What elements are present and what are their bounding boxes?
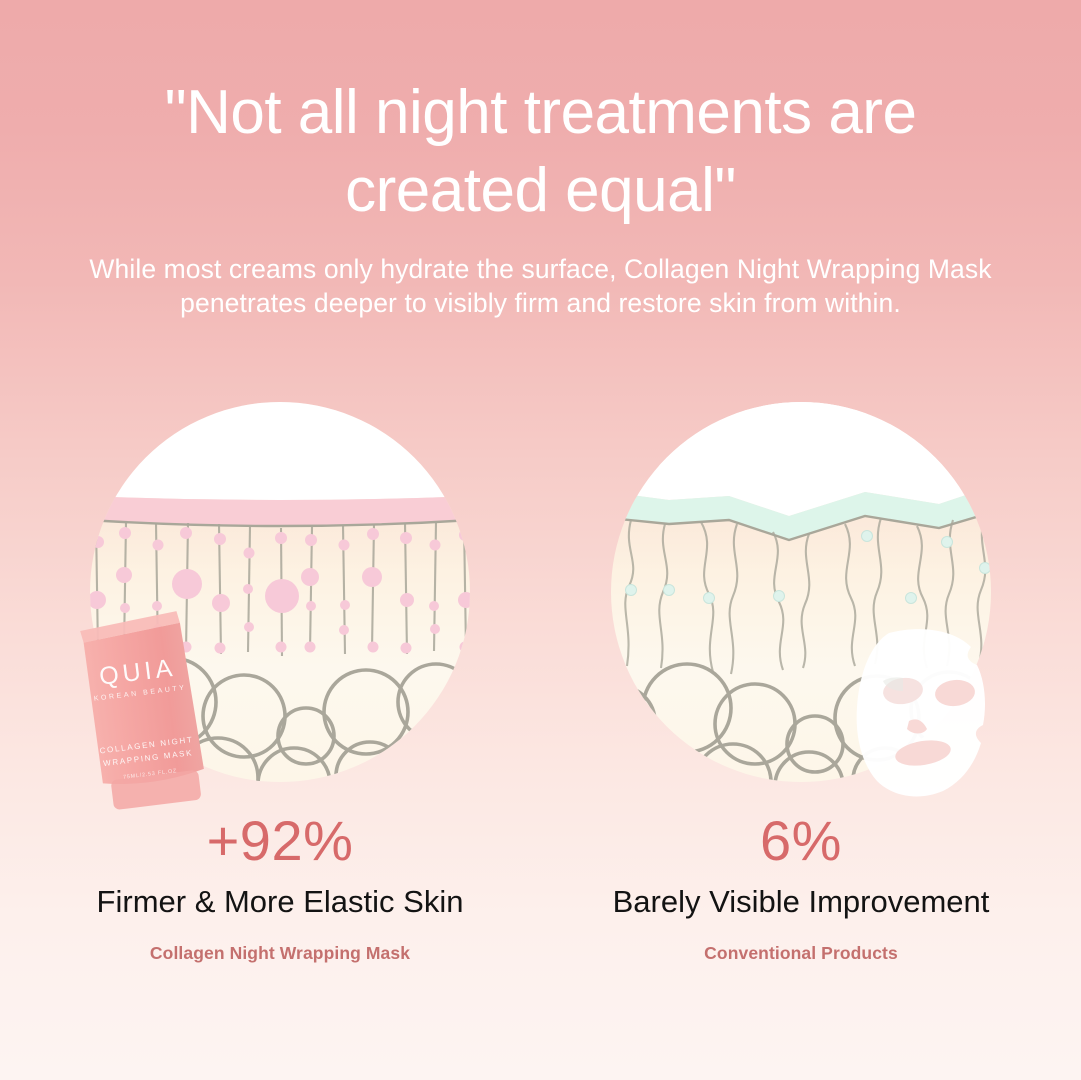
stat-label: Barely Visible Improvement xyxy=(551,882,1051,921)
stat-caption: Conventional Products xyxy=(551,942,1051,964)
product-tube: QUIA KOREAN BEAUTY COLLAGEN NIGHT WRAPPI… xyxy=(72,608,212,813)
stat-block-right: 6% Barely Visible Improvement Convention… xyxy=(551,810,1051,964)
sheet-mask-graphic xyxy=(843,625,1013,805)
comparison-column-left: QUIA KOREAN BEAUTY COLLAGEN NIGHT WRAPPI… xyxy=(30,400,530,1040)
comparison-section: QUIA KOREAN BEAUTY COLLAGEN NIGHT WRAPPI… xyxy=(0,400,1081,1040)
stat-caption: Collagen Night Wrapping Mask xyxy=(30,942,530,964)
page-title: "Not all night treatments are created eq… xyxy=(71,74,1011,230)
stat-value: 6% xyxy=(551,810,1051,872)
marketing-infographic: "Not all night treatments are created eq… xyxy=(0,0,1081,1080)
page-subtitle: While most creams only hydrate the surfa… xyxy=(56,252,1026,320)
header-block: "Not all night treatments are created eq… xyxy=(0,0,1081,320)
stat-label: Firmer & More Elastic Skin xyxy=(30,882,530,921)
stat-value: +92% xyxy=(30,810,530,872)
stat-block-left: +92% Firmer & More Elastic Skin Collagen… xyxy=(30,810,530,964)
comparison-column-right: 6% Barely Visible Improvement Convention… xyxy=(551,400,1051,1040)
